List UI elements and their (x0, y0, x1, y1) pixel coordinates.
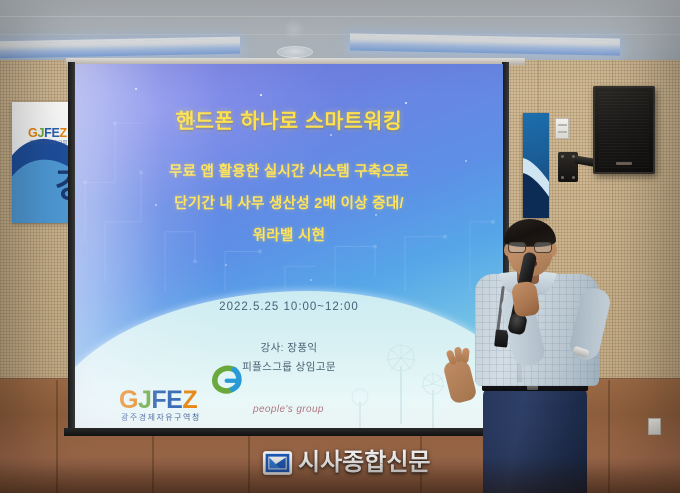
ceiling-mount (283, 18, 305, 40)
presenter-open-hand (446, 300, 476, 352)
banner-logo-korean: 광주경제자유구역청 (29, 140, 72, 146)
gjfez-mark-icon (207, 362, 243, 396)
ceiling-dome-light (277, 46, 313, 58)
projection-screen: 핸드폰 하나로 스마트워킹 무료 앱 활용한 실시간 시스템 구축으로 단기간 … (75, 64, 503, 430)
logo-letter-f: F (151, 386, 166, 414)
eyeglasses-icon (507, 242, 554, 253)
slide-subtitle-1: 무료 앱 활용한 실시간 시스템 구축으로 (75, 160, 503, 181)
slide-subtitle-3: 워라밸 시현 (75, 224, 503, 245)
slide-datetime: 2022.5.25 10:00~12:00 (75, 301, 503, 313)
screen-rail-left (68, 62, 75, 434)
gjfez-wordmark: GJFEZ (119, 388, 197, 413)
logo-letter-z: Z (182, 386, 197, 414)
peoples-group-logo: people's group (253, 404, 324, 415)
photo-scene: 경 GJFEZ 광주경제자유구역청 (0, 0, 680, 493)
slide-subtitle-2: 단기간 내 사무 생산성 2배 이상 증대/ (75, 192, 503, 213)
hand-holding-microphone (511, 280, 540, 317)
slide-gjfez-logo: GJFEZ 광주경제자유구역청 (119, 362, 249, 420)
gjfez-korean-subtitle: 광주경제자유구역청 (121, 412, 201, 423)
wall-plate (555, 118, 569, 139)
wall-banner-right (523, 113, 549, 218)
floor-shadow (0, 457, 680, 493)
logo-letter-e: E (166, 386, 182, 414)
presenter (455, 222, 655, 493)
banner-logo-word: GJFEZ (28, 126, 67, 140)
logo-letter-j: J (138, 386, 151, 414)
slide-lecturer: 강사: 장풍익 (75, 340, 503, 355)
screen-bottom-bar (64, 428, 516, 436)
dandelion-icon-3 (343, 382, 377, 430)
slide-title: 핸드폰 하나로 스마트워킹 (75, 104, 503, 134)
pa-speaker (593, 86, 655, 174)
logo-letter-g: G (119, 386, 138, 414)
